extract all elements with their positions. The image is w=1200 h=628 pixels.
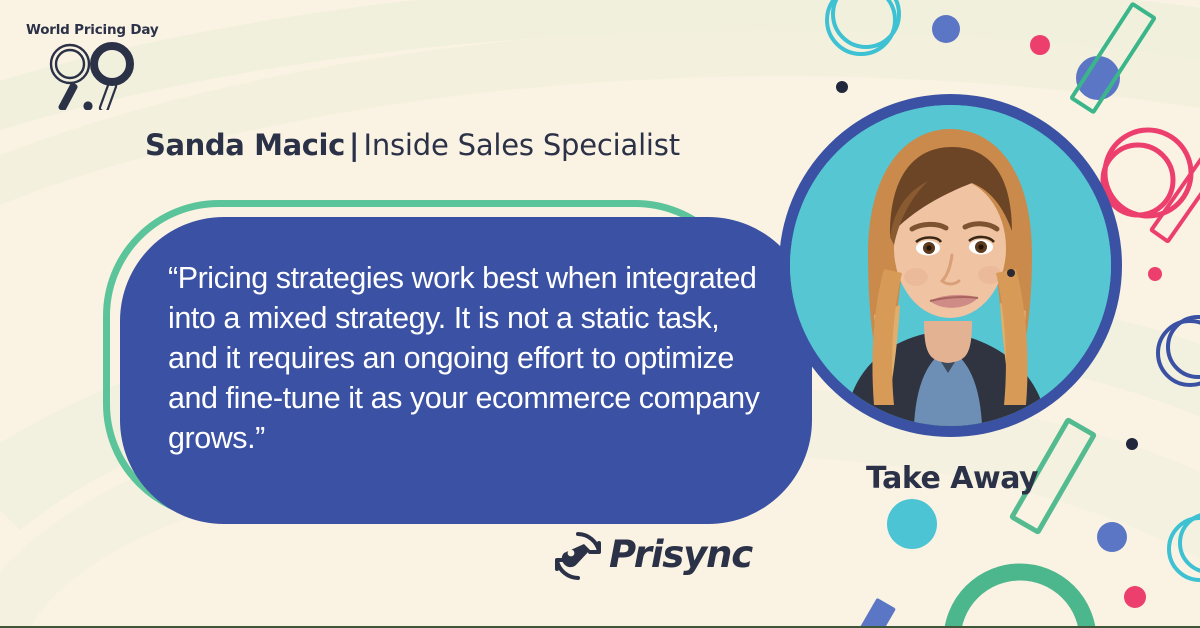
poster-canvas: World Pricing Day Sanda Macic|Inside Sal… bbox=[0, 0, 1200, 628]
ink-dot-bottom-right bbox=[1126, 438, 1138, 450]
teal-dot-bottom bbox=[887, 499, 937, 549]
prisync-logo: Prisync bbox=[553, 531, 763, 583]
percent-magnifier-mark bbox=[40, 42, 150, 110]
portrait-illustration bbox=[790, 105, 1111, 426]
pink-dot-bottom-right bbox=[1124, 586, 1146, 608]
periwinkle-dot-bottom bbox=[1097, 522, 1127, 552]
speaker-portrait bbox=[779, 94, 1122, 437]
world-pricing-day-title: World Pricing Day bbox=[26, 22, 158, 38]
pink-dot-right bbox=[1148, 267, 1162, 281]
speaker-separator: | bbox=[349, 128, 360, 162]
speaker-line: Sanda Macic|Inside Sales Specialist bbox=[145, 131, 680, 160]
portrait-photo bbox=[790, 105, 1111, 426]
quote-text: “Pricing strategies work best when integ… bbox=[168, 258, 768, 458]
periwinkle-dot-top bbox=[932, 15, 960, 43]
price-tag-sync-icon bbox=[553, 531, 603, 581]
take-away-label: Take Away bbox=[866, 461, 1038, 496]
speaker-name: Sanda Macic bbox=[145, 128, 345, 162]
ink-dot-top-left bbox=[836, 81, 848, 93]
prisync-wordmark: Prisync bbox=[609, 533, 752, 576]
speaker-role: Inside Sales Specialist bbox=[363, 128, 679, 162]
world-pricing-day-logo: World Pricing Day bbox=[22, 22, 172, 110]
pink-dot-top bbox=[1030, 35, 1050, 55]
